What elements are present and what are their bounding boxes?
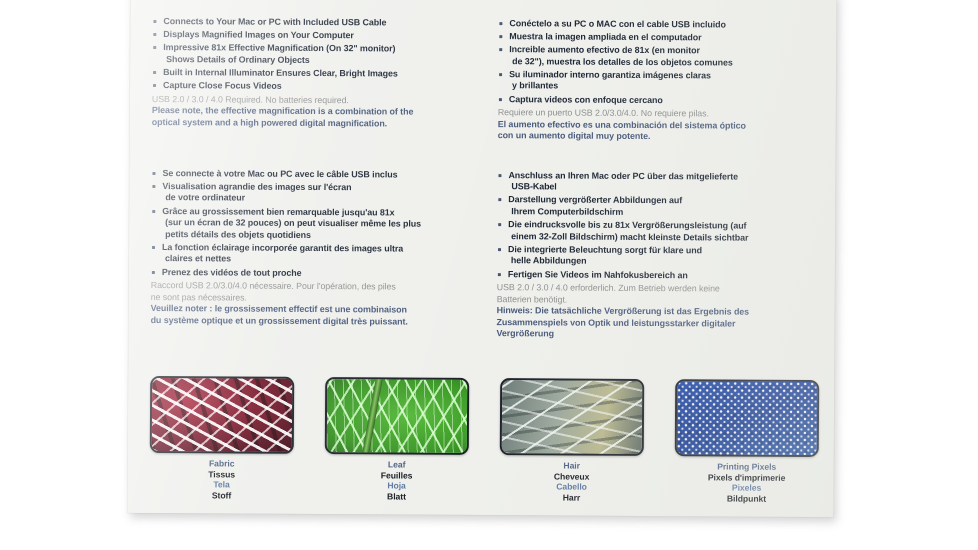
fabric-magnified-photo-icon — [152, 378, 292, 452]
sample-printing-pixels: Printing Pixels Pixels d'imprimerie Pixe… — [674, 379, 819, 504]
feature-list-fr: Se connecte à votre Mac ou PC avec le câ… — [151, 168, 468, 280]
sample-fabric: Fabric Tissus Tela Stoff — [149, 376, 294, 501]
sample-caption: Leaf Feuilles Hoja Blatt — [324, 459, 468, 502]
sample-photos-strip: Fabric Tissus Tela Stoff Leaf Feuilles H… — [149, 376, 812, 504]
caption-de: Harr — [499, 492, 643, 503]
feature-item: Displays Magnified Images on Your Comput… — [152, 29, 468, 43]
feature-item: Muestra la imagen ampliada en el computa… — [498, 31, 814, 45]
card-content-area: Connects to Your Mac or PC with Included… — [127, 0, 836, 517]
sample-caption: Fabric Tissus Tela Stoff — [149, 458, 293, 501]
feature-item: Prenez des vidéos de tout proche — [151, 266, 467, 280]
feature-item: Darstellung vergrößerter Abbildungen auf… — [497, 195, 813, 220]
note-line: optical system and a high powered digita… — [152, 117, 468, 131]
feature-item: Capture Close Focus Videos — [152, 80, 468, 94]
note-line: Vergrößerung — [496, 328, 812, 342]
sample-leaf: Leaf Feuilles Hoja Blatt — [324, 377, 469, 502]
feature-item: Impressive 81x Effective Magnification (… — [152, 42, 468, 67]
feature-item: Grâce au grossissement bien remarquable … — [151, 206, 467, 243]
magnification-disclaimer-es: El aumento efectivo es una combinación d… — [498, 119, 814, 144]
language-block-fr: Se connecte à votre Mac ou PC avec le câ… — [150, 140, 467, 340]
feature-item: Anschluss an Ihren Mac oder PC über das … — [497, 170, 813, 195]
feature-item: Visualisation agrandie des images sur l'… — [151, 181, 467, 206]
hair-thumbnail — [500, 378, 644, 456]
magnification-disclaimer-en: Please note, the effective magnification… — [152, 105, 468, 130]
product-insert-card: Connects to Your Mac or PC with Included… — [127, 0, 836, 517]
leaf-thumbnail — [325, 377, 469, 455]
feature-item: Se connecte à votre Mac ou PC avec le câ… — [151, 168, 467, 182]
sample-caption: Hair Cheveux Cabello Harr — [499, 460, 643, 503]
feature-item: Su iluminador interno garantiza imágenes… — [498, 69, 814, 94]
language-block-en: Connects to Your Mac or PC with Included… — [152, 14, 469, 142]
language-block-es: Conéctelo a su PC o MAC con el cable USB… — [498, 16, 815, 144]
feature-item: Fertigen Sie Videos im Nahfokusbereich a… — [497, 269, 813, 283]
feature-item: Captura videos con enfoque cercano — [498, 94, 814, 108]
leaf-magnified-photo-icon — [327, 379, 467, 453]
sample-caption: Printing Pixels Pixels d'imprimerie Pixe… — [674, 461, 818, 504]
feature-item: Connects to Your Mac or PC with Included… — [152, 16, 468, 30]
feature-list-de: Anschluss an Ihren Mac oder PC über das … — [497, 170, 814, 282]
requirements-note-fr: Raccord USB 2.0/3.0/4.0 nécessaire. Pour… — [151, 280, 467, 305]
caption-de: Bildpunkt — [674, 493, 818, 504]
feature-item: Increible aumento efectivo de 81x (en mo… — [498, 44, 814, 69]
printing-pixels-thumbnail — [675, 379, 819, 457]
language-block-de: Anschluss an Ihren Mac oder PC über das … — [496, 142, 813, 342]
feature-item: Built in Internal Illuminator Ensures Cl… — [152, 67, 468, 81]
magnification-disclaimer-de: Hinweis: Die tatsächliche Vergrößerung i… — [496, 305, 812, 342]
magnification-disclaimer-fr: Veuillez noter : le grossissement effect… — [151, 303, 467, 328]
language-blocks-grid: Connects to Your Mac or PC with Included… — [150, 14, 814, 342]
sample-hair: Hair Cheveux Cabello Harr — [499, 378, 644, 503]
note-line: du système optique et un grossissement d… — [151, 314, 467, 328]
feature-item: Conéctelo a su PC o MAC con el cable USB… — [498, 18, 814, 32]
requirements-note-de: USB 2.0 / 3.0 / 4.0 erforderlich. Zum Be… — [497, 282, 813, 307]
hair-magnified-photo-icon — [502, 380, 642, 454]
feature-item: La fonction éclairage incorporée garanti… — [151, 242, 467, 267]
feature-list-es: Conéctelo a su PC o MAC con el cable USB… — [498, 18, 815, 107]
feature-list-en: Connects to Your Mac or PC with Included… — [152, 16, 468, 93]
screenshot-canvas: Connects to Your Mac or PC with Included… — [0, 0, 978, 550]
feature-item: Die integrierte Beleuchtung sorgt für kl… — [497, 244, 813, 269]
caption-de: Stoff — [149, 490, 293, 501]
caption-de: Blatt — [324, 491, 468, 502]
fabric-thumbnail — [150, 376, 294, 454]
feature-item: Die eindrucksvolle bis zu 81x Vergrößeru… — [497, 219, 813, 244]
printing-pixels-magnified-photo-icon — [677, 381, 817, 455]
